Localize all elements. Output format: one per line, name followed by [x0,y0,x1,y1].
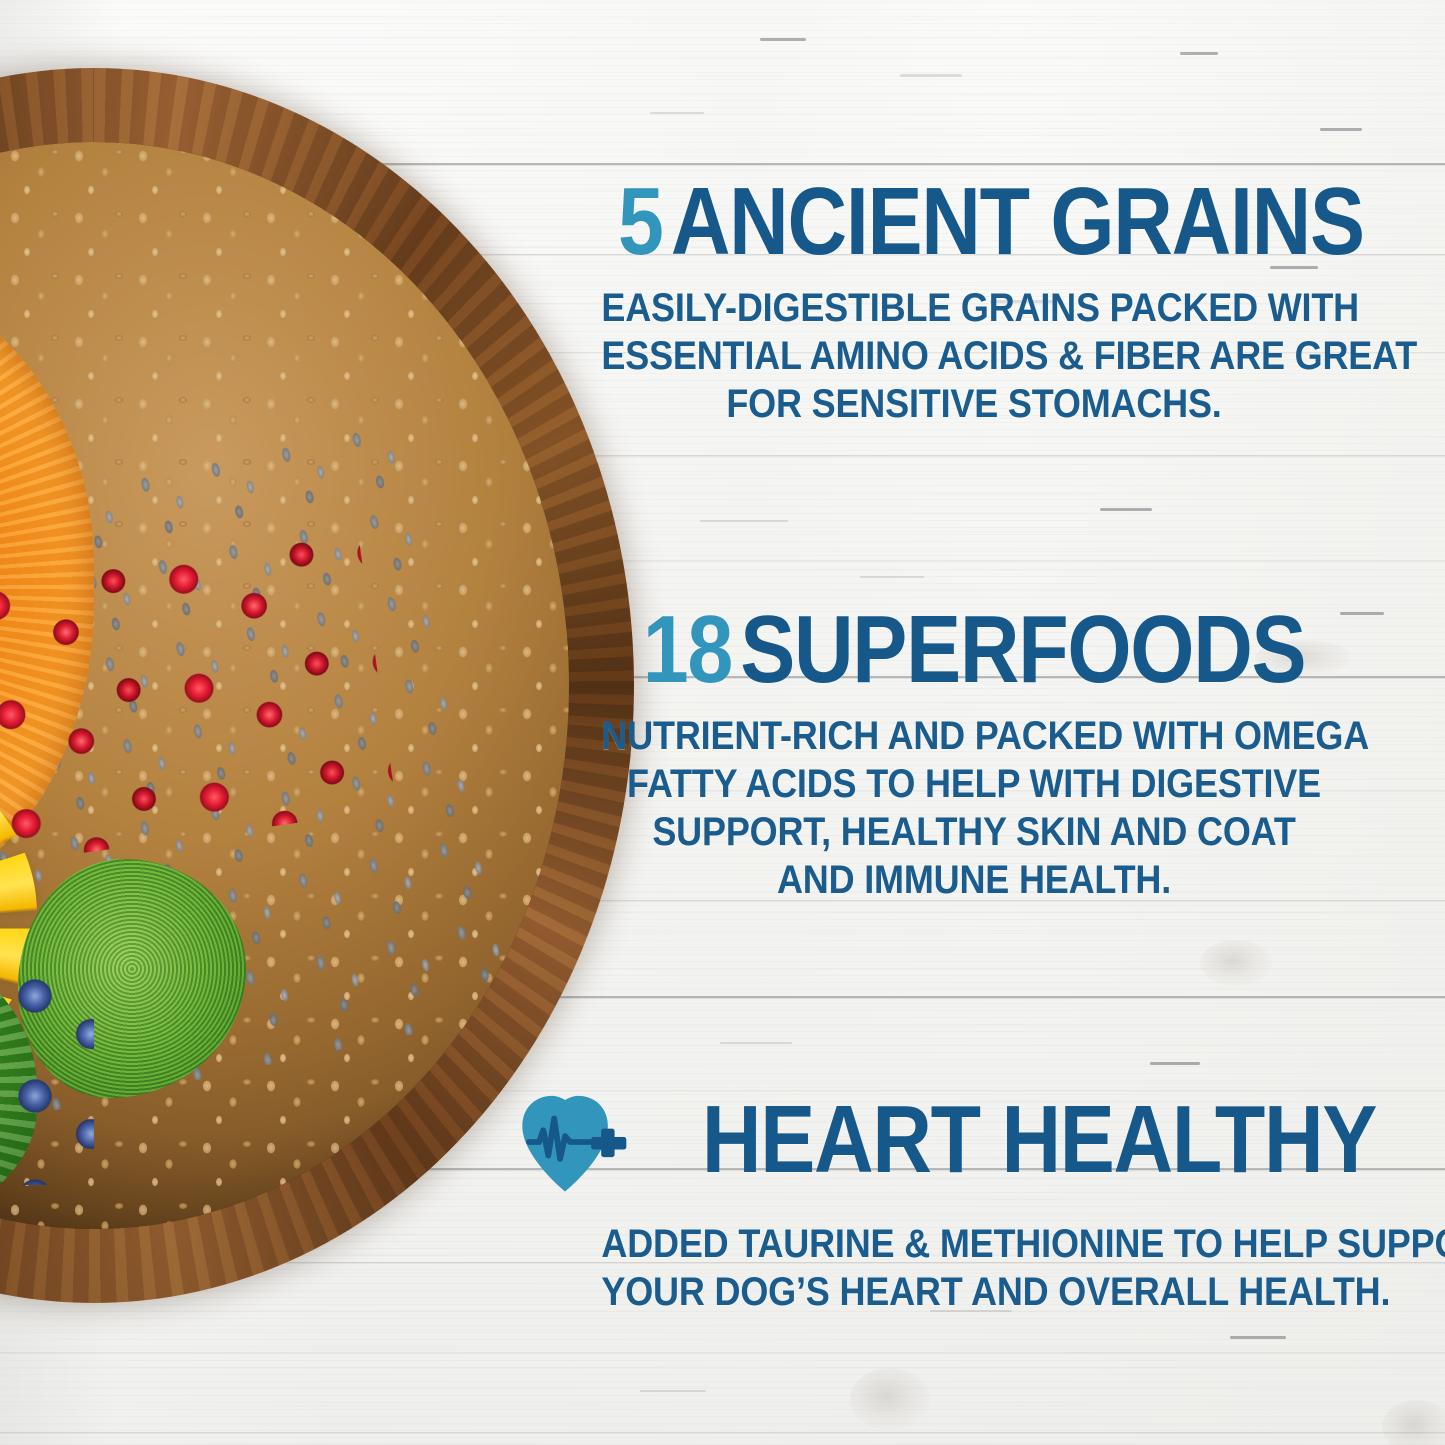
body-line: AND IMMUNE HEALTH. [601,856,1346,904]
body-line: FOR SENSITIVE STOMACHS. [601,380,1346,428]
heart-pulse-icon [517,1090,635,1194]
body-line: ADDED TAURINE & METHIONINE TO HELP SUPPO… [601,1220,1346,1268]
section-heading: 5ANCIENT GRAINS [618,176,1330,268]
section-superfoods: 18SUPERFOODS NUTRIENT-RICH AND PACKED WI… [560,604,1388,904]
infographic-stage: 5ANCIENT GRAINS EASILY-DIGESTIBLE GRAINS… [0,0,1445,1445]
section-title: HEART HEALTHY [702,1086,1376,1193]
section-body: ADDED TAURINE & METHIONINE TO HELP SUPPO… [601,1220,1346,1316]
section-title: ANCIENT GRAINS [671,168,1364,275]
body-line: FATTY ACIDS TO HELP WITH DIGESTIVE [601,760,1346,808]
body-line: SUPPORT, HEALTHY SKIN AND COAT [601,808,1346,856]
section-heart-healthy: HEART HEALTHY ADDED TAURINE & METHIONINE… [560,1086,1388,1316]
cranberries [0,529,397,864]
section-title: SUPERFOODS [740,596,1305,703]
body-line: ESSENTIAL AMINO ACIDS & FIBER ARE GREAT [601,332,1346,380]
section-heading: HEART HEALTHY [702,1094,1376,1186]
bowl-interior [0,142,569,1229]
blueberries [0,968,94,1185]
body-line: YOUR DOG’S HEART AND OVERALL HEALTH. [601,1268,1346,1316]
section-heading: 18SUPERFOODS [618,604,1330,696]
benefits-content: 5ANCIENT GRAINS EASILY-DIGESTIBLE GRAINS… [560,0,1388,1445]
section-ancient-grains: 5ANCIENT GRAINS EASILY-DIGESTIBLE GRAINS… [560,176,1388,428]
section-body: EASILY-DIGESTIBLE GRAINS PACKED WITH ESS… [601,284,1346,428]
section-number: 5 [618,168,663,275]
body-line: NUTRIENT-RICH AND PACKED WITH OMEGA [601,712,1346,760]
section-body: NUTRIENT-RICH AND PACKED WITH OMEGA FATT… [601,712,1346,904]
body-line: EASILY-DIGESTIBLE GRAINS PACKED WITH [601,284,1346,332]
section-heading-row: HEART HEALTHY [560,1086,1388,1194]
section-number: 18 [643,596,732,703]
